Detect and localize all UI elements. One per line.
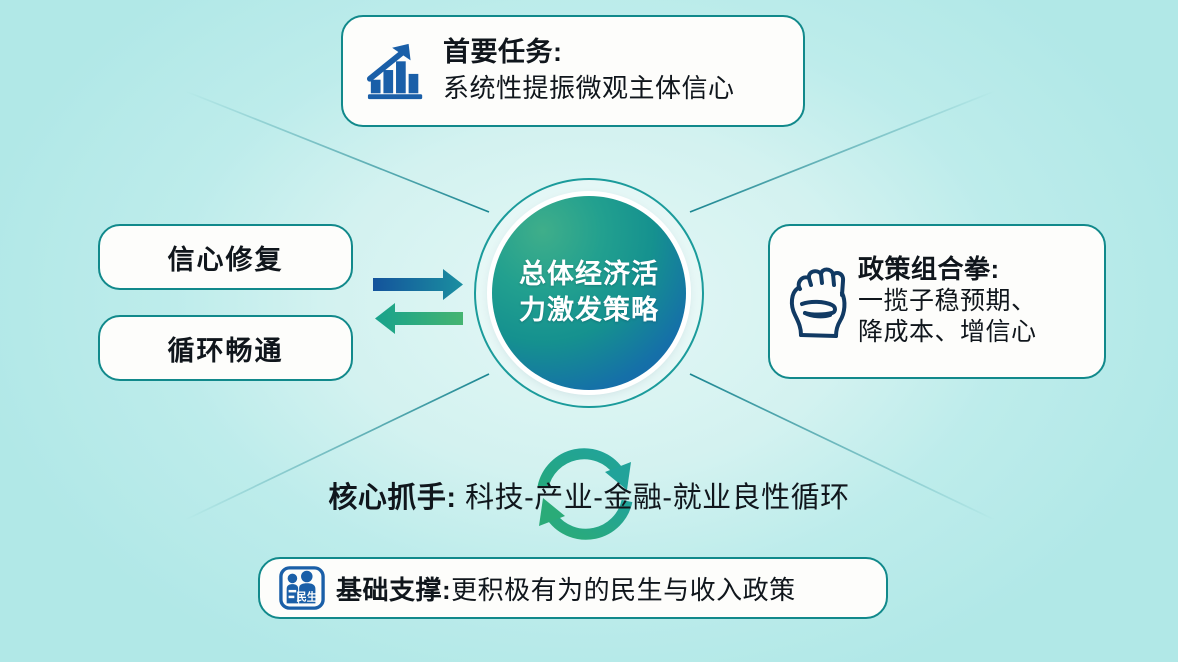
livelihood-badge-icon: 民生 xyxy=(276,565,328,611)
center-title-line1: 总体经济活 xyxy=(519,257,659,293)
svg-text:民生: 民生 xyxy=(296,590,318,603)
card-primary-task[interactable]: 首要任务: 系统性提振微观主体信心 xyxy=(341,15,805,127)
card-circulation-smooth-label: 循环畅通 xyxy=(168,329,284,368)
center-strategy-circle[interactable]: 总体经济活 力激发策略 xyxy=(492,196,686,390)
arrow-left-icon xyxy=(375,303,463,334)
card-basic-support-title: 基础支撑: xyxy=(336,570,451,607)
card-policy-combo-body-line2: 降成本、增信心 xyxy=(858,317,1037,348)
card-primary-task-title: 首要任务: xyxy=(443,36,735,70)
card-policy-combo[interactable]: 政策组合拳: 一揽子稳预期、 降成本、增信心 xyxy=(768,224,1106,379)
card-confidence-repair[interactable]: 信心修复 xyxy=(98,224,353,290)
card-basic-support-body: 更积极有为的民生与收入政策 xyxy=(451,570,796,607)
center-title-line2: 力激发策略 xyxy=(519,293,659,329)
fist-icon xyxy=(782,265,854,339)
card-confidence-repair-label: 信心修复 xyxy=(168,238,284,277)
card-primary-task-body: 系统性提振微观主体信心 xyxy=(443,72,735,106)
card-basic-support[interactable]: 民生 基础支撑: 更积极有为的民生与收入政策 xyxy=(258,557,888,619)
core-handle-line: 核心抓手: 科技-产业-金融-就业良性循环 xyxy=(0,474,1178,516)
infographic-canvas: 首要任务: 系统性提振微观主体信心 信心修复 循环畅通 总体经济活 力激发策略 xyxy=(0,0,1178,662)
card-policy-combo-body-line1: 一揽子稳预期、 xyxy=(858,286,1037,317)
core-handle-title: 核心抓手: xyxy=(328,482,456,514)
arrow-right-icon xyxy=(373,269,463,300)
card-policy-combo-title: 政策组合拳: xyxy=(858,254,1037,286)
core-handle-body: 科技-产业-金融-就业良性循环 xyxy=(457,482,850,514)
bar-chart-growth-icon xyxy=(359,40,435,102)
bidirectional-arrows xyxy=(371,266,479,340)
card-circulation-smooth[interactable]: 循环畅通 xyxy=(98,315,353,381)
